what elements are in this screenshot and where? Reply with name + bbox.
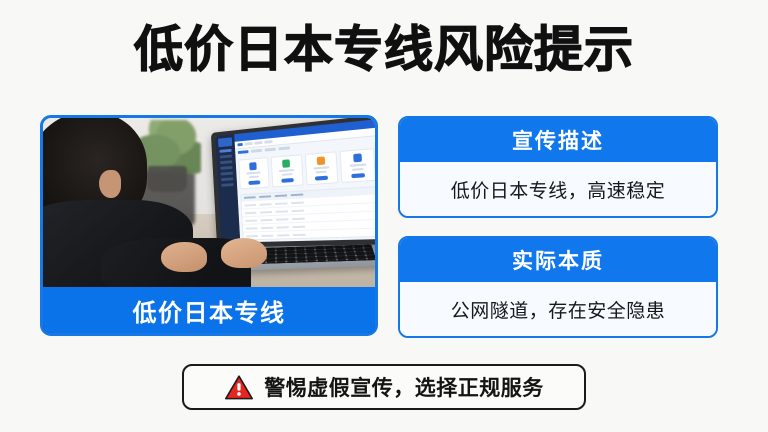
info-card-header: 实际本质 — [400, 238, 716, 282]
photo-plant-pot — [147, 166, 187, 192]
laptop-lid — [211, 118, 375, 248]
screen-feature-card — [238, 157, 269, 189]
screen-card-button — [248, 180, 260, 185]
warning-triangle-icon — [224, 374, 254, 401]
info-card-body: 公网隧道，存在安全隐患 — [400, 282, 716, 336]
laptop-screen — [215, 119, 375, 242]
info-card-reality: 实际本质 公网隧道，存在安全隐患 — [398, 236, 718, 338]
photo-person-hand-left — [161, 242, 207, 272]
screen-card-button — [315, 176, 328, 181]
warning-text: 警惕虚假宣传，选择正规服务 — [264, 372, 544, 402]
photo-person-ear — [99, 170, 121, 198]
screen-card-button — [281, 178, 294, 183]
screen-sidebar-item — [220, 155, 232, 159]
photo-caption: 低价日本专线 — [43, 287, 375, 333]
screen-card-button — [351, 173, 365, 178]
screen-sidebar-item — [220, 166, 232, 170]
screen-card-icon — [353, 153, 362, 162]
screen-feature-card — [270, 154, 303, 187]
poster-stage: 低价日本专线风险提示 — [0, 0, 768, 432]
screen-feature-card — [304, 151, 338, 185]
photo-image — [43, 118, 375, 289]
screen-card-icon — [282, 159, 290, 168]
screen-sidebar-item — [221, 172, 233, 176]
screen-sidebar-item — [221, 177, 233, 181]
photo-panel: 低价日本专线 — [40, 115, 378, 336]
screen-sidebar-item — [219, 149, 231, 153]
screen-sidebar-item — [221, 183, 233, 187]
info-card-promotion: 宣传描述 低价日本专线，高速稳定 — [398, 116, 718, 218]
screen-table — [240, 186, 375, 240]
page-title: 低价日本专线风险提示 — [0, 22, 768, 78]
screen-sidebar-item — [220, 160, 232, 164]
screen-feature-card — [340, 148, 375, 183]
info-card-header: 宣传描述 — [400, 118, 716, 162]
screen-main — [234, 119, 375, 242]
screen-card-icon — [249, 162, 257, 170]
screen-logo — [218, 137, 232, 147]
warning-banner: 警惕虚假宣传，选择正规服务 — [182, 364, 586, 410]
screen-card-icon — [317, 156, 325, 165]
photo-person-hand-right — [221, 238, 267, 268]
info-card-body: 低价日本专线，高速稳定 — [400, 162, 716, 216]
